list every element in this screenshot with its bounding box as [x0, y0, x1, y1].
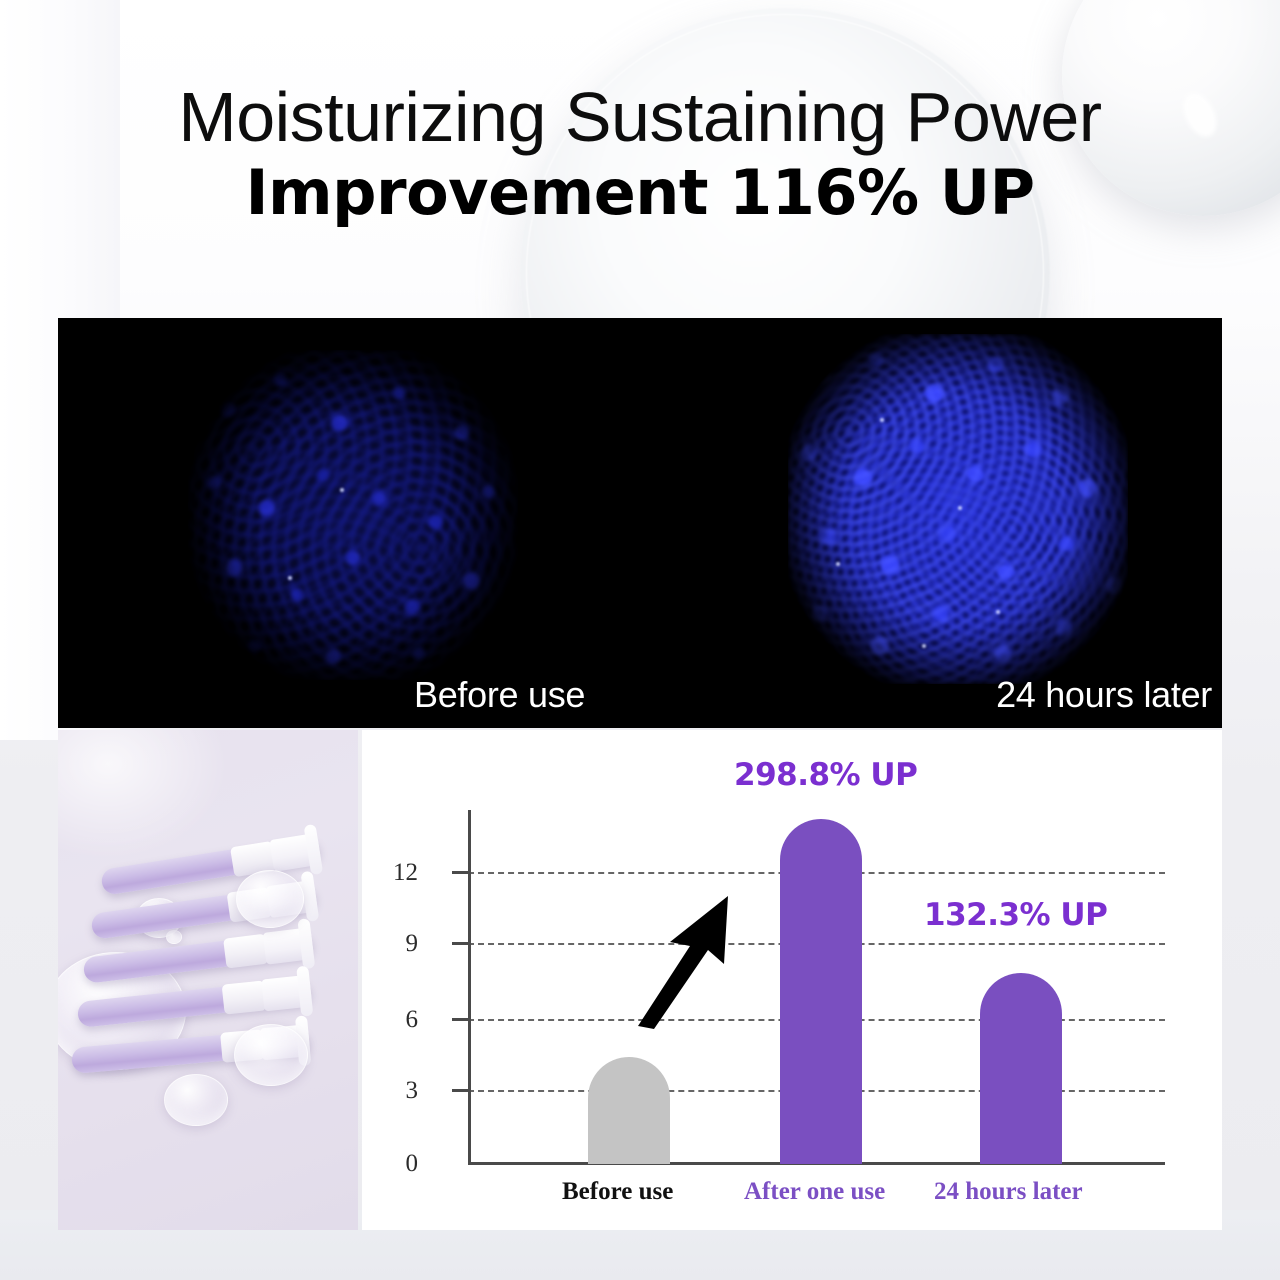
caption-24-hours-later: 24 hours later [996, 674, 1212, 716]
product-photo [58, 730, 358, 1230]
stick-collar [222, 980, 267, 1014]
fluorescence-image-after: 24 hours later [640, 318, 1222, 728]
gel-droplet [166, 930, 182, 944]
title-line-1: Moisturizing Sustaining Power [0, 78, 1280, 156]
tick-mark-3 [452, 1089, 470, 1092]
y-tick-label-6: 6 [362, 1007, 418, 1032]
caption-before-use: Before use [414, 674, 585, 716]
title-line-2: Improvement 116% UP [0, 156, 1280, 230]
gel-droplet [164, 1074, 228, 1126]
bar-24-hours-later [980, 973, 1062, 1164]
applicator-stick [82, 930, 313, 984]
fluorescence-sparkle [958, 506, 962, 510]
data-label-24-hours-later: 132.3% UP [924, 898, 1107, 932]
fluorescence-sparkle [880, 418, 884, 422]
moisturizing-bar-chart: 12 9 6 3 0 298.8% UP 132.3% UP Before us… [362, 730, 1222, 1230]
chart-plot-area: 12 9 6 3 0 298.8% UP 132.3% UP Before us… [362, 730, 1222, 1230]
tick-mark-12 [452, 871, 470, 874]
fluorescence-sparkle [996, 610, 1000, 614]
upward-trend-arrow-icon [632, 890, 762, 1030]
fluorescence-sparkle [922, 644, 926, 648]
page-title: Moisturizing Sustaining Power Improvemen… [0, 78, 1280, 230]
stick-plunger [263, 927, 315, 965]
y-axis [468, 810, 471, 1164]
gel-droplet [234, 1024, 308, 1086]
fluorescence-sparkle [340, 488, 344, 492]
stick-collar [223, 934, 268, 969]
stick-plunger [269, 833, 321, 872]
fluorescence-grain-before [188, 350, 518, 680]
y-tick-label-9: 9 [362, 931, 418, 956]
gel-droplet [236, 870, 304, 928]
tick-mark-6 [452, 1018, 470, 1021]
category-label-before-use: Before use [562, 1178, 673, 1206]
fluorescence-sparkle [288, 576, 292, 580]
fluorescence-comparison-panel: Before use 24 hours later [58, 318, 1222, 728]
y-tick-label-0: 0 [362, 1151, 418, 1176]
y-tick-label-3: 3 [362, 1078, 418, 1103]
fluorescence-sparkle [836, 562, 840, 566]
tick-mark-9 [452, 942, 470, 945]
category-label-24-hours-later: 24 hours later [934, 1178, 1083, 1206]
stick-plunger [261, 975, 312, 1012]
bar-before-use [588, 1057, 670, 1164]
data-label-after-one-use: 298.8% UP [734, 758, 917, 792]
category-label-after-one-use: After one use [744, 1178, 885, 1206]
y-tick-label-12: 12 [362, 860, 418, 885]
bar-after-one-use [780, 819, 862, 1164]
fluorescence-image-before: Before use [58, 318, 640, 728]
